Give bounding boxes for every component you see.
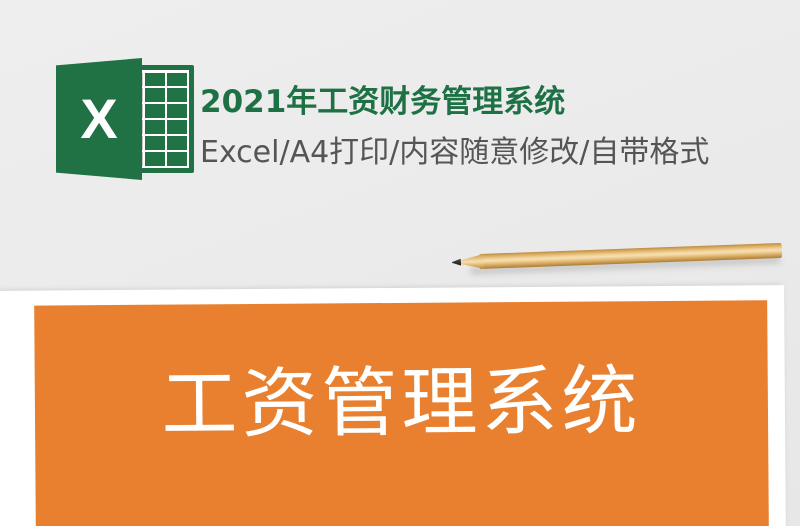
excel-grid-cell (145, 120, 165, 133)
excel-grid-cell (167, 104, 187, 117)
header-band: X 2021年工资财务管理系统 Excel/A4打印/内容随意修改/自带格式 (0, 0, 800, 260)
orange-card: 工资管理系统 (0, 285, 786, 526)
pencil-graphite-tip (452, 259, 461, 266)
excel-grid-cell (167, 136, 187, 149)
excel-logo-panel: X (56, 58, 142, 180)
orange-card-surface: 工资管理系统 (34, 300, 769, 526)
excel-grid-cell (167, 152, 187, 165)
excel-grid-cell (167, 120, 187, 133)
card-heading: 工资管理系统 (35, 362, 769, 443)
excel-logo-letter: X (56, 58, 142, 180)
card-stack: 工资管理系统 (0, 286, 766, 526)
excel-grid-cell (145, 73, 165, 86)
page-title: 2021年工资财务管理系统 (200, 76, 565, 121)
excel-logo-icon: X (56, 58, 196, 180)
excel-grid-cell (145, 104, 165, 117)
excel-grid-cell (145, 88, 165, 101)
page-subtitle: Excel/A4打印/内容随意修改/自带格式 (200, 127, 709, 171)
excel-grid-cell (167, 88, 187, 101)
excel-grid-cell (167, 73, 187, 86)
excel-grid-cell (145, 136, 165, 149)
excel-grid-cell (145, 152, 165, 165)
poster-canvas: X 2021年工资财务管理系统 Excel/A4打印/内容随意修改/自带格式 工… (0, 0, 800, 526)
